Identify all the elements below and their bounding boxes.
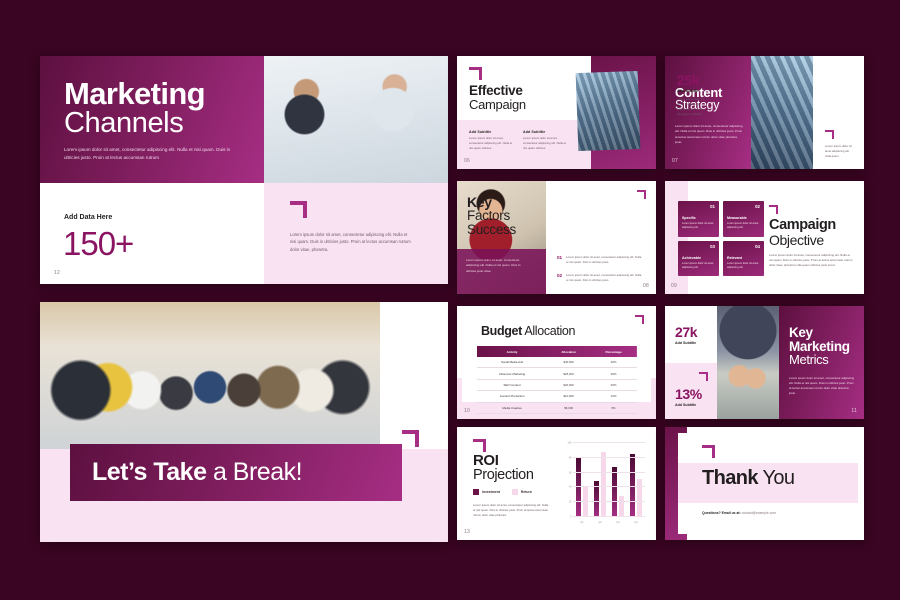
heading-block: ROI Projection: [473, 453, 533, 483]
heading-light: Allocation: [522, 324, 575, 338]
corner-accent-icon: [402, 430, 419, 447]
corner-accent-icon: [473, 439, 486, 452]
card-label: Relevant: [727, 256, 760, 260]
budget-table: Activity Allocation Percentage Social Me…: [477, 346, 637, 414]
thank-you-bold: Thank: [702, 467, 758, 489]
heading-light: Metrics: [789, 353, 850, 367]
heading-bold: Campaign: [769, 218, 836, 233]
heading-light: Projection: [473, 468, 533, 483]
heading-block: Key Marketing Metrics: [789, 326, 850, 367]
cell-activity: SEO Content: [477, 379, 547, 390]
cell-activity: Media Creative: [477, 402, 547, 413]
side-note-text: Lorem ipsum dolor sit amet, consectetur …: [290, 231, 412, 253]
corner-accent-icon: [469, 67, 482, 80]
chart-y-tick-label: 0: [570, 516, 571, 519]
column-title: Add Subtitle: [469, 130, 514, 134]
table-row: Social Media Ads $40,000 40%: [477, 357, 637, 368]
chart-bar-group: [594, 452, 607, 517]
presentation-preview-board: Marketing Channels Lorem ipsum dolor sit…: [0, 0, 900, 600]
page-title-light: Channels: [64, 109, 205, 139]
page-number: 08: [643, 283, 649, 289]
corner-accent-icon: [769, 205, 778, 214]
legend-item-investment: Investment: [473, 489, 500, 495]
slide-roi-projection[interactable]: ROI Projection Investment Return Lorem i…: [457, 427, 656, 540]
card-number: 02: [755, 204, 760, 209]
table-row: Influencer Marketing $25,000 25%: [477, 368, 637, 379]
chart-gridline: 0: [573, 516, 645, 517]
break-heading: Let’s Take a Break!: [70, 444, 402, 501]
column-header-activity: Activity: [477, 346, 547, 357]
legend-label-return: Return: [521, 490, 532, 494]
corner-accent-icon: [635, 315, 644, 324]
page-title-bold: Marketing: [64, 79, 205, 109]
stat-value: 150+: [63, 225, 133, 263]
card-text: Lorem ipsum dolor sit amet, adipiscing e…: [727, 262, 760, 271]
table-row: Media Creative $5,000 5%: [477, 402, 637, 413]
page-number: 07: [672, 158, 678, 164]
slide-marketing-channels[interactable]: Marketing Channels Lorem ipsum dolor sit…: [40, 56, 448, 284]
objective-card[interactable]: 04 Relevant Lorem ipsum dolor sit amet, …: [723, 241, 764, 277]
legend-label-investment: Investment: [482, 490, 500, 494]
page-number: 06: [464, 158, 470, 164]
chart-gridline: 60: [573, 472, 645, 473]
chart-gridline: 100: [573, 442, 645, 443]
celebrating-team-photo: [40, 302, 380, 449]
heading-bold: Key: [467, 195, 516, 209]
objective-card[interactable]: 03 Achievable Lorem ipsum dolor sit amet…: [678, 241, 719, 277]
stat-panel: Add Data Here 150+ 12: [40, 183, 264, 284]
slide-key-marketing-metrics[interactable]: 27k Add Subtitle 13% Add Subtitle Key Ma…: [665, 306, 864, 419]
chart-x-tick-label: Q1: [580, 521, 583, 524]
heading-bold: Effective: [469, 84, 526, 98]
list-text: Lorem ipsum dolor sit amet, consectetur …: [566, 273, 644, 283]
page-number: 11: [851, 408, 857, 414]
page-number: 09: [671, 283, 677, 289]
objective-card[interactable]: 02 Measurable Lorem ipsum dolor sit amet…: [723, 201, 764, 237]
list-item: 02 Lorem ipsum dolor sit amet, consectet…: [557, 273, 644, 283]
list-item: 01 Lorem ipsum dolor sit amet, consectet…: [557, 255, 644, 265]
list-text: Lorem ipsum dolor sit amet, consectetur …: [566, 255, 644, 265]
cell-percentage: 40%: [590, 357, 637, 368]
legend-swatch-return: [512, 489, 518, 495]
chart-x-axis-labels: Q1Q2Q3Q4: [573, 521, 645, 524]
heading-bold: ROI: [473, 453, 533, 468]
cell-allocation: $10,000: [547, 391, 590, 402]
list-number: 01: [557, 255, 562, 265]
kpi-note-text: Lorem ipsum dolor sit amet adipiscing el…: [825, 144, 855, 159]
kpi-label: Add Subtitle: [677, 89, 698, 93]
thank-you-heading: Thank You: [702, 467, 794, 490]
title-block: Marketing Channels: [64, 79, 205, 139]
page-number: 13: [464, 529, 470, 535]
caption-text: Lorem ipsum dolor sit amet, consectetur …: [466, 258, 524, 274]
slide-budget-allocation[interactable]: Budget Allocation Activity Allocation Pe…: [457, 306, 656, 419]
column-header-percentage: Percentage: [590, 346, 637, 357]
list-number: 02: [557, 273, 562, 283]
break-heading-bold: Let’s Take: [92, 458, 207, 486]
corner-accent-icon: [637, 190, 646, 199]
heading-light-1: Factors: [467, 209, 516, 223]
objective-card[interactable]: 01 Specific Lorem ipsum dolor sit amet, …: [678, 201, 719, 237]
heading-block: Key Factors Success: [467, 195, 516, 238]
kpi-label-2: Add Subtitle: [675, 403, 696, 407]
chart-y-tick-label: 40: [569, 486, 572, 489]
card-number: 03: [710, 244, 715, 249]
cell-allocation: $20,000: [547, 379, 590, 390]
cell-percentage: 25%: [590, 368, 637, 379]
card-label: Measurable: [727, 216, 760, 220]
card-text: Lorem ipsum dolor sit amet, adipiscing e…: [682, 222, 715, 231]
card-label: Achievable: [682, 256, 715, 260]
slide-content-strategy[interactable]: Content Strategy Lorem ipsum dolor sit a…: [665, 56, 864, 169]
cell-allocation: $25,000: [547, 368, 590, 379]
side-note-panel: Lorem ipsum dolor sit amet, consectetur …: [264, 183, 448, 284]
heading-light-2: Success: [467, 223, 516, 237]
chart-y-tick-label: 100: [568, 442, 572, 445]
chart-bar-return: [583, 487, 589, 517]
title-body-text: Lorem ipsum dolor sit amet, consectetur …: [64, 146, 236, 162]
cell-percentage: 20%: [590, 379, 637, 390]
kpi-value-1: 27k: [675, 324, 697, 340]
chart-bars: [573, 443, 645, 517]
office-meeting-photo: [264, 56, 448, 183]
cell-percentage: 5%: [590, 402, 637, 413]
card-number: 01: [710, 204, 715, 209]
photo-caption-overlay: Lorem ipsum dolor sit amet, consectetur …: [457, 249, 546, 294]
chart-bar-return: [601, 452, 607, 517]
cell-allocation: $5,000: [547, 402, 590, 413]
chart-bar-return: [637, 479, 643, 517]
smart-card-grid: 01 Specific Lorem ipsum dolor sit amet, …: [678, 201, 764, 276]
table-row: Content Production $10,000 10%: [477, 391, 637, 402]
column-header-allocation: Allocation: [547, 346, 590, 357]
legend-swatch-investment: [473, 489, 479, 495]
table-header-row: Activity Allocation Percentage: [477, 346, 637, 357]
corner-accent-icon: [702, 445, 715, 458]
chart-legend: Investment Return: [473, 489, 532, 495]
heading-bold-1: Key: [789, 326, 850, 340]
cell-percentage: 10%: [590, 391, 637, 402]
chart-y-tick-label: 20: [569, 501, 572, 504]
strategy-body-text: Lorem ipsum dolor sit amet, consectetur …: [675, 124, 743, 145]
heading-block: Campaign Objective: [769, 218, 836, 247]
chart-x-tick-label: Q3: [616, 521, 619, 524]
card-number: 04: [755, 244, 760, 249]
corner-accent-icon: [825, 130, 834, 139]
page-number: 10: [464, 408, 470, 414]
contact-email[interactable]: contact@example.com: [742, 511, 777, 515]
card-text: Lorem ipsum dolor sit amet, adipiscing e…: [727, 222, 760, 231]
glass-tower-photo: [576, 71, 641, 151]
slide-campaign-objective[interactable]: 01 Specific Lorem ipsum dolor sit amet, …: [665, 181, 864, 294]
roi-bar-chart: 020406080100 Q1Q2Q3Q4: [561, 441, 647, 527]
chart-y-tick-label: 80: [569, 456, 572, 459]
cell-activity: Social Media Ads: [477, 357, 547, 368]
break-heading-light: a Break!: [207, 458, 303, 486]
legend-item-return: Return: [512, 489, 532, 495]
stat-label: Add Data Here: [64, 214, 112, 221]
chart-bar-group: [576, 458, 589, 517]
chart-gridline: 40: [573, 486, 645, 487]
white-right-panel: [380, 302, 448, 449]
chart-bar-investment: [612, 467, 618, 517]
table-row: SEO Content $20,000 20%: [477, 379, 637, 390]
metrics-body-text: Lorem ipsum dolor sit amet, consectetur …: [789, 376, 855, 396]
column-title: Add Subtitle: [523, 130, 568, 134]
corner-accent-icon: [699, 372, 708, 381]
objective-body-text: Lorem ipsum dolor sit amet, consectetur …: [769, 253, 853, 268]
card-text: Lorem ipsum dolor sit amet, adipiscing e…: [682, 262, 715, 271]
kpi-label-1: Add Subtitle: [675, 341, 696, 345]
slide-effective-campaign[interactable]: Effective Campaign Add Subtitle Lorem ip…: [457, 56, 656, 169]
chart-gridline: 80: [573, 457, 645, 458]
cell-activity: Influencer Marketing: [477, 368, 547, 379]
slide-key-factors-success[interactable]: Lorem ipsum dolor sit amet, consectetur …: [457, 181, 656, 294]
column-text: Lorem ipsum dolor sit amet, consectetur …: [523, 136, 568, 150]
heading-bold-2: Marketing: [789, 340, 850, 354]
slide-lets-take-a-break[interactable]: Let’s Take a Break!: [40, 302, 448, 542]
subtitle-column-2: Add Subtitle Lorem ipsum dolor sit amet,…: [523, 130, 568, 150]
heading-light: Campaign: [469, 98, 526, 112]
chart-y-tick-label: 60: [569, 471, 572, 474]
kpi-text: Lorem ipsum dolor sit amet, consectetur …: [677, 97, 709, 117]
contact-label: Questions? Email us at:: [702, 511, 741, 515]
strategy-session-photo: [717, 306, 779, 419]
slide-thank-you[interactable]: Thank You Questions? Email us at: contac…: [665, 427, 864, 540]
chart-bar-return: [619, 496, 625, 517]
chart-x-tick-label: Q2: [598, 521, 601, 524]
chart-bar-investment: [576, 458, 582, 517]
heading-block: Budget Allocation: [481, 324, 575, 338]
chart-plot-area: 020406080100: [573, 443, 645, 517]
heading-bold: Budget: [481, 324, 522, 338]
glass-tower-photo: [751, 56, 813, 169]
kpi-value: 25k: [677, 72, 699, 88]
chart-x-tick-label: Q4: [634, 521, 637, 524]
heading-block: Effective Campaign: [469, 84, 526, 111]
corner-accent-icon: [290, 201, 307, 218]
contact-line: Questions? Email us at: contact@example.…: [702, 511, 776, 515]
subtitle-column-1: Add Subtitle Lorem ipsum dolor sit amet,…: [469, 130, 514, 150]
column-text: Lorem ipsum dolor sit amet, consectetur …: [469, 136, 514, 150]
kpi-value-2: 13%: [675, 386, 702, 402]
roi-body-text: Lorem ipsum dolor sit amet, consectetur …: [473, 503, 549, 518]
heading-light: Objective: [769, 233, 836, 248]
chart-gridline: 20: [573, 501, 645, 502]
cell-allocation: $40,000: [547, 357, 590, 368]
cell-activity: Content Production: [477, 391, 547, 402]
page-number: 12: [54, 270, 60, 276]
break-banner: Let’s Take a Break!: [70, 444, 402, 501]
card-label: Specific: [682, 216, 715, 220]
chart-bar-group: [612, 467, 625, 517]
thank-you-light: You: [758, 467, 795, 489]
